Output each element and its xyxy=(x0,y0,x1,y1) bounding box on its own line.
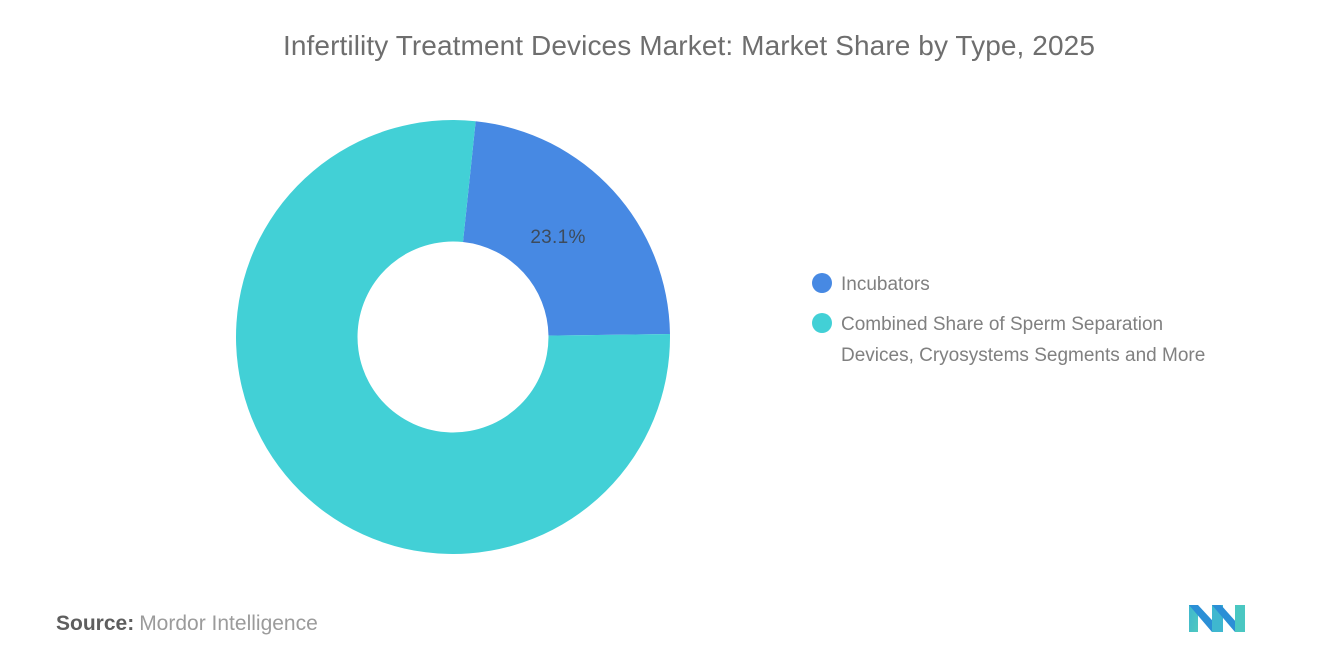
source-value: Mordor Intelligence xyxy=(139,612,318,635)
mordor-intelligence-logo-icon xyxy=(1185,597,1251,637)
legend-swatch-icon xyxy=(812,313,832,333)
page-title: Infertility Treatment Devices Market: Ma… xyxy=(0,30,1320,62)
legend-item-label: Combined Share of Sperm Separation Devic… xyxy=(841,310,1233,372)
chart-legend: Incubators Combined Share of Sperm Separ… xyxy=(812,270,1282,380)
donut-chart xyxy=(236,120,670,554)
legend-item-label: Incubators xyxy=(841,270,930,301)
chart-canvas: Infertility Treatment Devices Market: Ma… xyxy=(0,0,1320,665)
source-label: Source: xyxy=(56,612,134,635)
donut-chart-svg xyxy=(236,120,670,554)
legend-item-combined-share[interactable]: Combined Share of Sperm Separation Devic… xyxy=(812,310,1282,372)
legend-swatch-icon xyxy=(812,273,832,293)
source-attribution: Source:Mordor Intelligence xyxy=(56,612,318,636)
legend-item-incubators[interactable]: Incubators xyxy=(812,270,1282,301)
data-label-incubators: 23.1% xyxy=(503,227,613,249)
